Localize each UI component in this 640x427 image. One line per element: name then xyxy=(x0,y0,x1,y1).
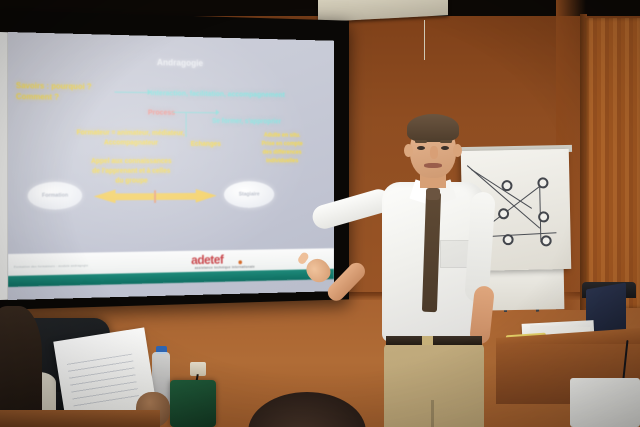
diagram-dot-7 xyxy=(503,234,514,245)
double-arrow-tick xyxy=(154,190,156,203)
presenter-eye-right xyxy=(441,146,449,150)
slide-text-echanges: Echanges xyxy=(178,141,233,148)
presenter-brow-left xyxy=(415,140,427,143)
white-equipment-unit[interactable] xyxy=(570,378,640,427)
presenter-trouser-seam xyxy=(431,400,434,427)
diagram-dot-3 xyxy=(537,177,548,188)
door[interactable] xyxy=(585,18,640,308)
double-arrow-left-head xyxy=(94,189,116,203)
presenter-brow-right xyxy=(440,140,452,143)
diagram-dot-8 xyxy=(541,235,552,246)
presenter-belt-buckle xyxy=(422,336,433,345)
slide-text-appel: Appel aux connaissances de l'apprenant e… xyxy=(55,157,206,187)
screen-pull-cord[interactable] xyxy=(424,20,425,60)
projector-screen[interactable]: Andragogie Savoirs : pourquoi ? Comment … xyxy=(8,32,334,300)
presenter-belt xyxy=(386,336,482,345)
green-device[interactable] xyxy=(170,380,216,427)
presenter-mouth xyxy=(424,163,442,168)
presenter-tie-knot xyxy=(426,188,440,200)
double-arrow-right-head xyxy=(196,189,217,203)
handout-text-lines xyxy=(67,354,140,412)
presenter-nose xyxy=(430,146,438,159)
double-arrow-icon xyxy=(94,189,217,203)
slide-text-savoirs: Savoirs : pourquoi ? Comment ? xyxy=(16,80,122,103)
presenter-ear-left xyxy=(404,144,413,157)
presenter xyxy=(300,100,500,427)
slide-oval-right: Stagiaire xyxy=(224,181,274,208)
slide-content: Andragogie Savoirs : pourquoi ? Comment … xyxy=(8,32,334,300)
foreground-table xyxy=(0,410,160,427)
slide-text-interaction: Interaction, facilitation, accompagnemen… xyxy=(150,88,333,99)
presenter-forearm xyxy=(324,259,368,304)
presenter-trousers xyxy=(384,343,484,427)
presenter-ear-right xyxy=(453,144,462,157)
slide-title: Andragogie xyxy=(124,57,235,69)
photo-scene: Screen Andragogie Savoirs : pourquoi ? C… xyxy=(0,0,640,427)
diagram-dot-2 xyxy=(501,180,512,191)
slide-oval-left: Formation xyxy=(28,182,82,210)
presenter-raised-arm xyxy=(310,186,394,231)
arrowhead-seformer-icon xyxy=(216,109,220,115)
presenter-eye-left xyxy=(417,146,425,150)
diagram-dot-5 xyxy=(538,211,549,222)
presenter-hair xyxy=(407,114,459,142)
projector-screen-left-edge xyxy=(0,32,8,300)
attendee-head-left xyxy=(0,306,42,427)
